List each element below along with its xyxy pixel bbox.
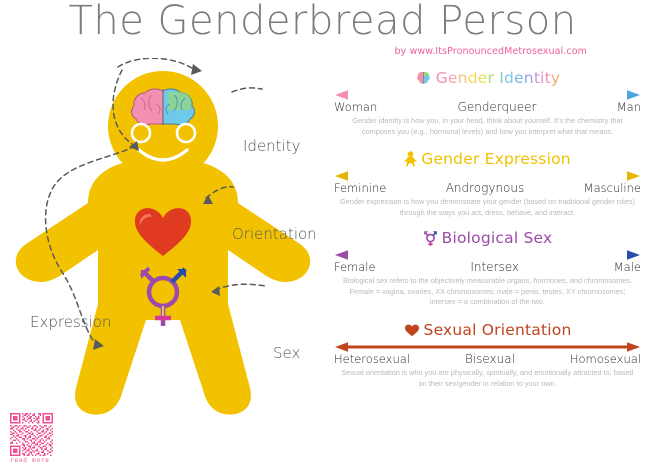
person-icon xyxy=(404,151,417,167)
section-title: Gender Expression xyxy=(421,150,571,168)
spectrum-bar xyxy=(334,89,641,101)
qr-block[interactable]: read more xyxy=(10,413,58,464)
section-title: Sexual Orientation xyxy=(424,321,572,339)
brain-icon xyxy=(132,89,195,125)
pole-left: Female xyxy=(334,260,376,274)
section-description: Gender identity is how you, in your head… xyxy=(340,116,635,137)
pole-right: Masculine xyxy=(584,181,641,195)
section-header: Sexual Orientation xyxy=(330,320,645,340)
section-biological-sex: Biological Sex Female Intersex Male xyxy=(330,228,645,308)
header: The Genderbread Person by www.ItsPronoun… xyxy=(0,0,645,66)
section-title: Gender Identity xyxy=(436,69,561,87)
spectrum-poles: Heterosexual Bisexual Homosexual xyxy=(330,352,645,366)
pole-right: Male xyxy=(614,260,641,274)
spectrum-poles: Feminine Androgynous Masculine xyxy=(330,181,645,195)
source-credit: by www.ItsPronouncedMetrosexual.com xyxy=(0,46,645,57)
section-description: Gender expression is how you demonstrate… xyxy=(340,197,635,218)
section-gender-expression: Gender Expression Feminine Androgynous M… xyxy=(330,149,645,218)
section-description: Biological sex refers to the objectively… xyxy=(340,276,635,308)
pole-mid: Genderqueer xyxy=(458,100,537,114)
pole-mid: Intersex xyxy=(470,260,519,274)
pole-right: Homosexual xyxy=(570,352,641,366)
page-title: The Genderbread Person xyxy=(0,0,645,44)
section-gender-identity: Gender Identity Woman Genderqueer M xyxy=(330,68,645,137)
section-sexual-orientation: Sexual Orientation Heterosexual Bisexual… xyxy=(330,320,645,389)
genderbread-illustration: Identity Orientation Sex Expression xyxy=(0,58,330,417)
spectrum-bar xyxy=(334,249,641,261)
pole-left: Heterosexual xyxy=(334,352,410,366)
section-header: Gender Identity xyxy=(330,68,645,88)
pole-mid: Androgynous xyxy=(446,181,525,195)
pole-left: Woman xyxy=(334,100,377,114)
section-header: Gender Expression xyxy=(330,149,645,169)
section-header: Biological Sex xyxy=(330,228,645,248)
callout-sex: Sex xyxy=(273,344,300,362)
section-title: Biological Sex xyxy=(442,229,553,247)
brain-icon xyxy=(415,71,432,86)
pole-mid: Bisexual xyxy=(465,352,515,366)
spectrum-poles: Female Intersex Male xyxy=(330,260,645,274)
section-description: Sexual orientation is who you are physic… xyxy=(340,368,635,389)
connector-identity xyxy=(232,88,262,92)
qr-caption: read more xyxy=(10,457,58,464)
pole-left: Feminine xyxy=(334,181,386,195)
spectrum-bar xyxy=(334,341,641,353)
qr-code[interactable] xyxy=(10,413,53,456)
spectrum-poles: Woman Genderqueer Man xyxy=(330,100,645,114)
heart-icon xyxy=(404,323,420,337)
callout-identity: Identity xyxy=(243,137,301,155)
callout-expression: Expression xyxy=(30,313,111,331)
connector-top xyxy=(118,58,195,70)
spectrum-bar xyxy=(334,170,641,182)
transgender-icon xyxy=(423,230,438,247)
spectrum-sections: Gender Identity Woman Genderqueer M xyxy=(330,68,645,355)
callout-orientation: Orientation xyxy=(232,225,317,243)
pole-right: Man xyxy=(617,100,641,114)
